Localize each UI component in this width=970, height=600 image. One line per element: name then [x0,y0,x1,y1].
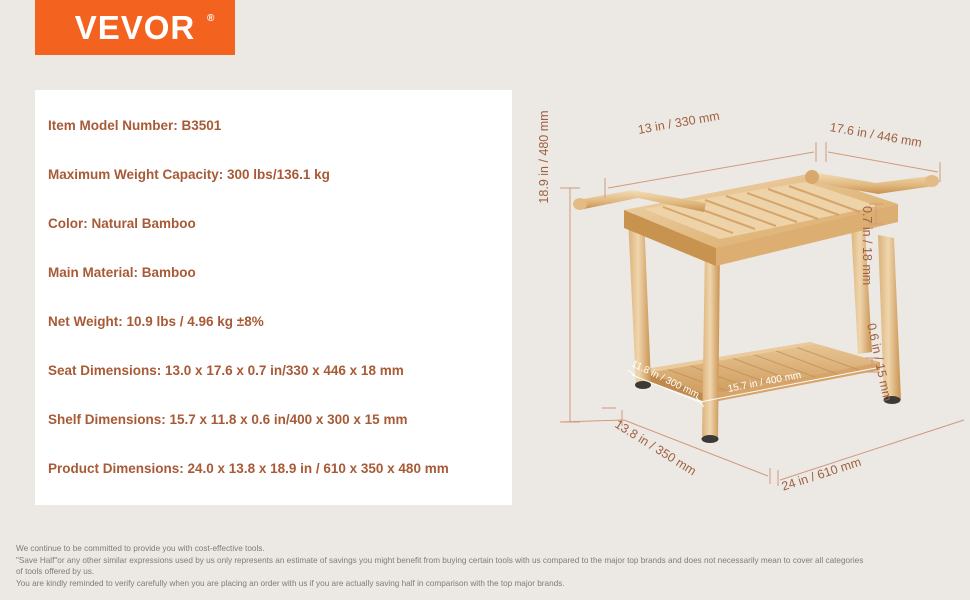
product-spec-page: VEVOR ® Item Model Number: B3501 Maximum… [0,0,970,600]
lower-shelf [640,342,880,403]
brand-name: VEVOR [75,9,196,47]
vevor-logo: VEVOR [35,0,235,55]
spec-item-net-weight: Net Weight: 10.9 lbs / 4.96 kg ±8% [48,312,512,361]
product-diagram: 13 in / 330 mm 17.6 in / 446 mm 18.9 in … [520,90,970,510]
registered-trademark-icon: ® [207,13,214,24]
spec-item-product-dimensions: Product Dimensions: 24.0 x 13.8 x 18.9 i… [48,459,512,508]
spec-item-model-number: Item Model Number: B3501 [48,116,512,165]
footer-line-3: of tools offered by us. [16,566,961,578]
spec-item-shelf-dimensions: Shelf Dimensions: 15.7 x 11.8 x 0.6 in/4… [48,410,512,459]
spec-item-color: Color: Natural Bamboo [48,214,512,263]
spec-item-seat-dimensions: Seat Dimensions: 13.0 x 17.6 x 0.7 in/33… [48,361,512,410]
spec-item-material: Main Material: Bamboo [48,263,512,312]
specifications-card: Item Model Number: B3501 Maximum Weight … [35,90,512,505]
footer-line-4: You are kindly reminded to verify carefu… [16,578,961,590]
dim-label-seat-thickness: 0.7 in / 18 mm [860,206,874,285]
footer-line-2: "Save Half"or any other similar expressi… [16,555,961,567]
footer-line-1: We continue to be committed to provide y… [16,543,961,555]
dim-label-overall-height: 18.9 in / 480 mm [537,82,551,232]
bench-illustration [520,90,970,510]
footer-disclaimer: We continue to be committed to provide y… [16,543,961,589]
spec-item-weight-capacity: Maximum Weight Capacity: 300 lbs/136.1 k… [48,165,512,214]
